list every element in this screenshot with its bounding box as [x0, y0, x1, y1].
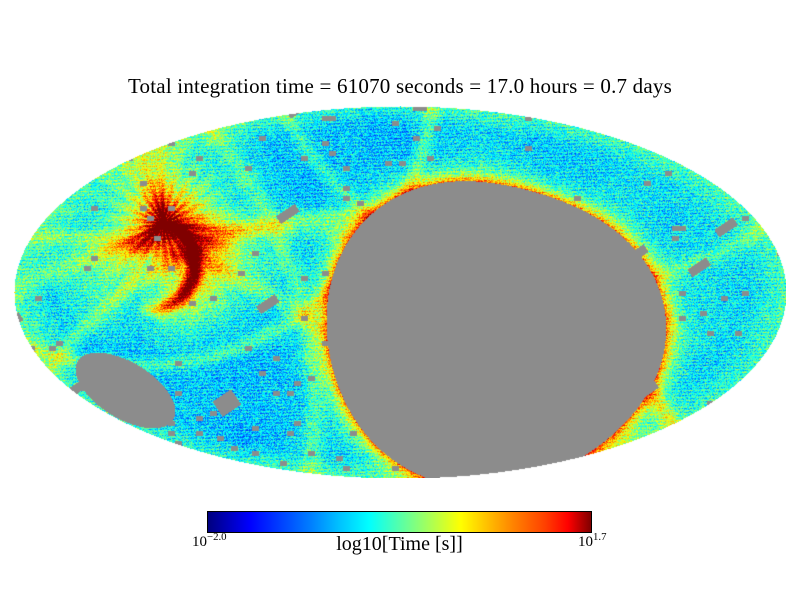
- colorbar-max-exponent: 1.7: [593, 531, 607, 543]
- colorbar-max-tick-label: 101.7: [578, 534, 607, 551]
- sky-map: [14, 106, 786, 478]
- colorbar-min-tick-label: 10−2.0: [192, 534, 227, 551]
- mollweide-projection-plot: [14, 106, 786, 478]
- figure-canvas: Total integration time = 61070 seconds =…: [0, 0, 800, 600]
- page-title: Total integration time = 61070 seconds =…: [0, 74, 800, 99]
- colorbar-max-base: 10: [578, 534, 593, 550]
- colorbar-gradient[interactable]: [207, 511, 592, 533]
- colorbar-min-base: 10: [192, 534, 207, 550]
- colorbar-label: log10[Time [s]]: [207, 533, 592, 556]
